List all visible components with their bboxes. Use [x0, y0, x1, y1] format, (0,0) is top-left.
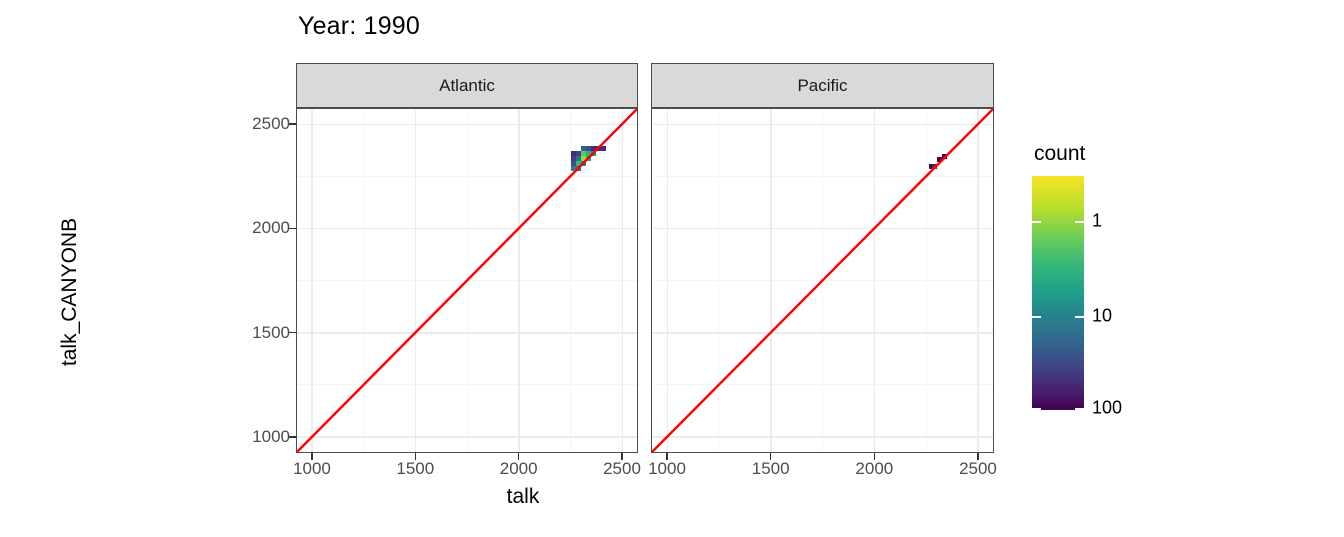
y-axis-tick-label: 1000: [252, 427, 290, 447]
legend-tick-label: 1: [1092, 211, 1102, 232]
legend: count 100101: [1032, 142, 1085, 410]
legend-tick-mark: [1075, 316, 1084, 318]
legend-tick-mark: [1032, 408, 1041, 410]
x-axis-tick-label: 2000: [500, 459, 538, 479]
y-axis-tick-label: 1500: [252, 323, 290, 343]
y-axis-tick-mark: [289, 436, 296, 438]
reference-line-identity: [297, 109, 637, 452]
plot-panel-pacific: [651, 108, 994, 453]
x-axis-tick-label: 1500: [396, 459, 434, 479]
y-axis-title: talk_CANYONB: [58, 142, 82, 442]
y-axis-tick-label: 2500: [252, 114, 290, 134]
x-axis-tick-label: 2500: [603, 459, 641, 479]
legend-colorbar: 100101: [1032, 176, 1084, 410]
facet-strip-atlantic: Atlantic: [296, 63, 638, 108]
x-axis-tick-label: 2000: [855, 459, 893, 479]
legend-tick-mark: [1032, 221, 1041, 223]
legend-colorbar-wrap: 100101: [1032, 176, 1085, 410]
x-axis-title: talk: [0, 485, 1344, 509]
legend-tick-label: 100: [1092, 398, 1122, 419]
reference-line-identity: [652, 109, 993, 452]
y-axis-tick-label: 2000: [252, 218, 290, 238]
legend-tick-label: 10: [1092, 305, 1112, 326]
facet-strip-pacific: Pacific: [651, 63, 994, 108]
plot-panel-atlantic: [296, 108, 638, 453]
legend-tick-mark: [1032, 316, 1041, 318]
x-axis-tick-label: 2500: [959, 459, 997, 479]
y-axis-tick-mark: [289, 332, 296, 334]
y-axis-tick-mark: [289, 123, 296, 125]
y-axis-tick-mark: [289, 228, 296, 230]
legend-tick-mark: [1075, 221, 1084, 223]
facet-strip-label: Pacific: [797, 76, 847, 96]
x-axis-tick-label: 1500: [752, 459, 790, 479]
plot-canvas: Year: 1990 Atlantic Pacific 100015002000…: [0, 0, 1344, 537]
facet-strip-label: Atlantic: [439, 76, 495, 96]
x-axis-tick-label: 1000: [648, 459, 686, 479]
page-title: Year: 1990: [298, 12, 420, 41]
legend-tick-mark: [1075, 408, 1084, 410]
x-axis-tick-label: 1000: [293, 459, 331, 479]
legend-title: count: [1034, 142, 1085, 166]
